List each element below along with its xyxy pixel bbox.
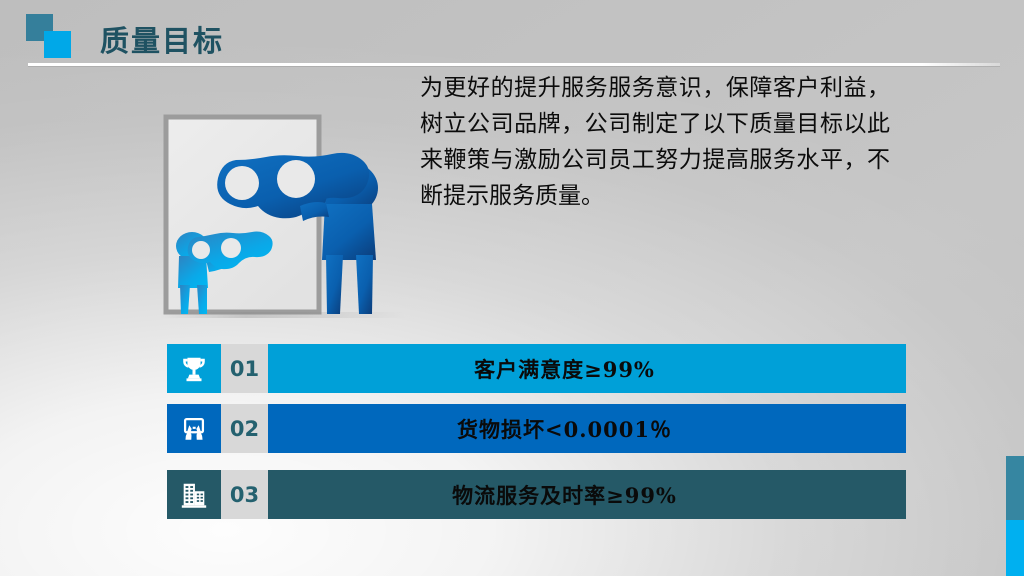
goal-text: 物流服务及时率≥99% bbox=[268, 470, 906, 519]
edge-accent-bottom bbox=[1006, 520, 1024, 576]
goal-text: 货物损坏<0.0001％ bbox=[268, 404, 906, 453]
goal-row[interactable]: 03 物流服务及时率≥99% bbox=[167, 470, 906, 519]
goal-row[interactable]: 01 客户满意度≥99% bbox=[167, 344, 906, 393]
buildings-icon bbox=[167, 470, 221, 519]
page-title: 质量目标 bbox=[100, 18, 224, 60]
whiteboard-hands-icon bbox=[167, 404, 221, 453]
goal-row[interactable]: 02 货物损坏<0.0001％ bbox=[167, 404, 906, 453]
slide-canvas: 质量目标 为更好的提升服务服务意识，保障客户利益，树立公司品牌，公司制定了以下质… bbox=[0, 0, 1024, 576]
goal-number: 02 bbox=[221, 404, 268, 453]
goal-number: 01 bbox=[221, 344, 268, 393]
goal-text: 客户满意度≥99% bbox=[268, 344, 906, 393]
right-edge-accent bbox=[1006, 456, 1024, 576]
title-underline bbox=[28, 63, 1000, 66]
decor-square-cyan-icon bbox=[44, 31, 71, 58]
goal-number: 03 bbox=[221, 470, 268, 519]
intro-paragraph: 为更好的提升服务服务意识，保障客户利益，树立公司品牌，公司制定了以下质量目标以此… bbox=[420, 70, 890, 214]
trophy-icon bbox=[167, 344, 221, 393]
two-people-with-binoculars-illustration bbox=[150, 100, 415, 325]
edge-accent-top bbox=[1006, 456, 1024, 520]
